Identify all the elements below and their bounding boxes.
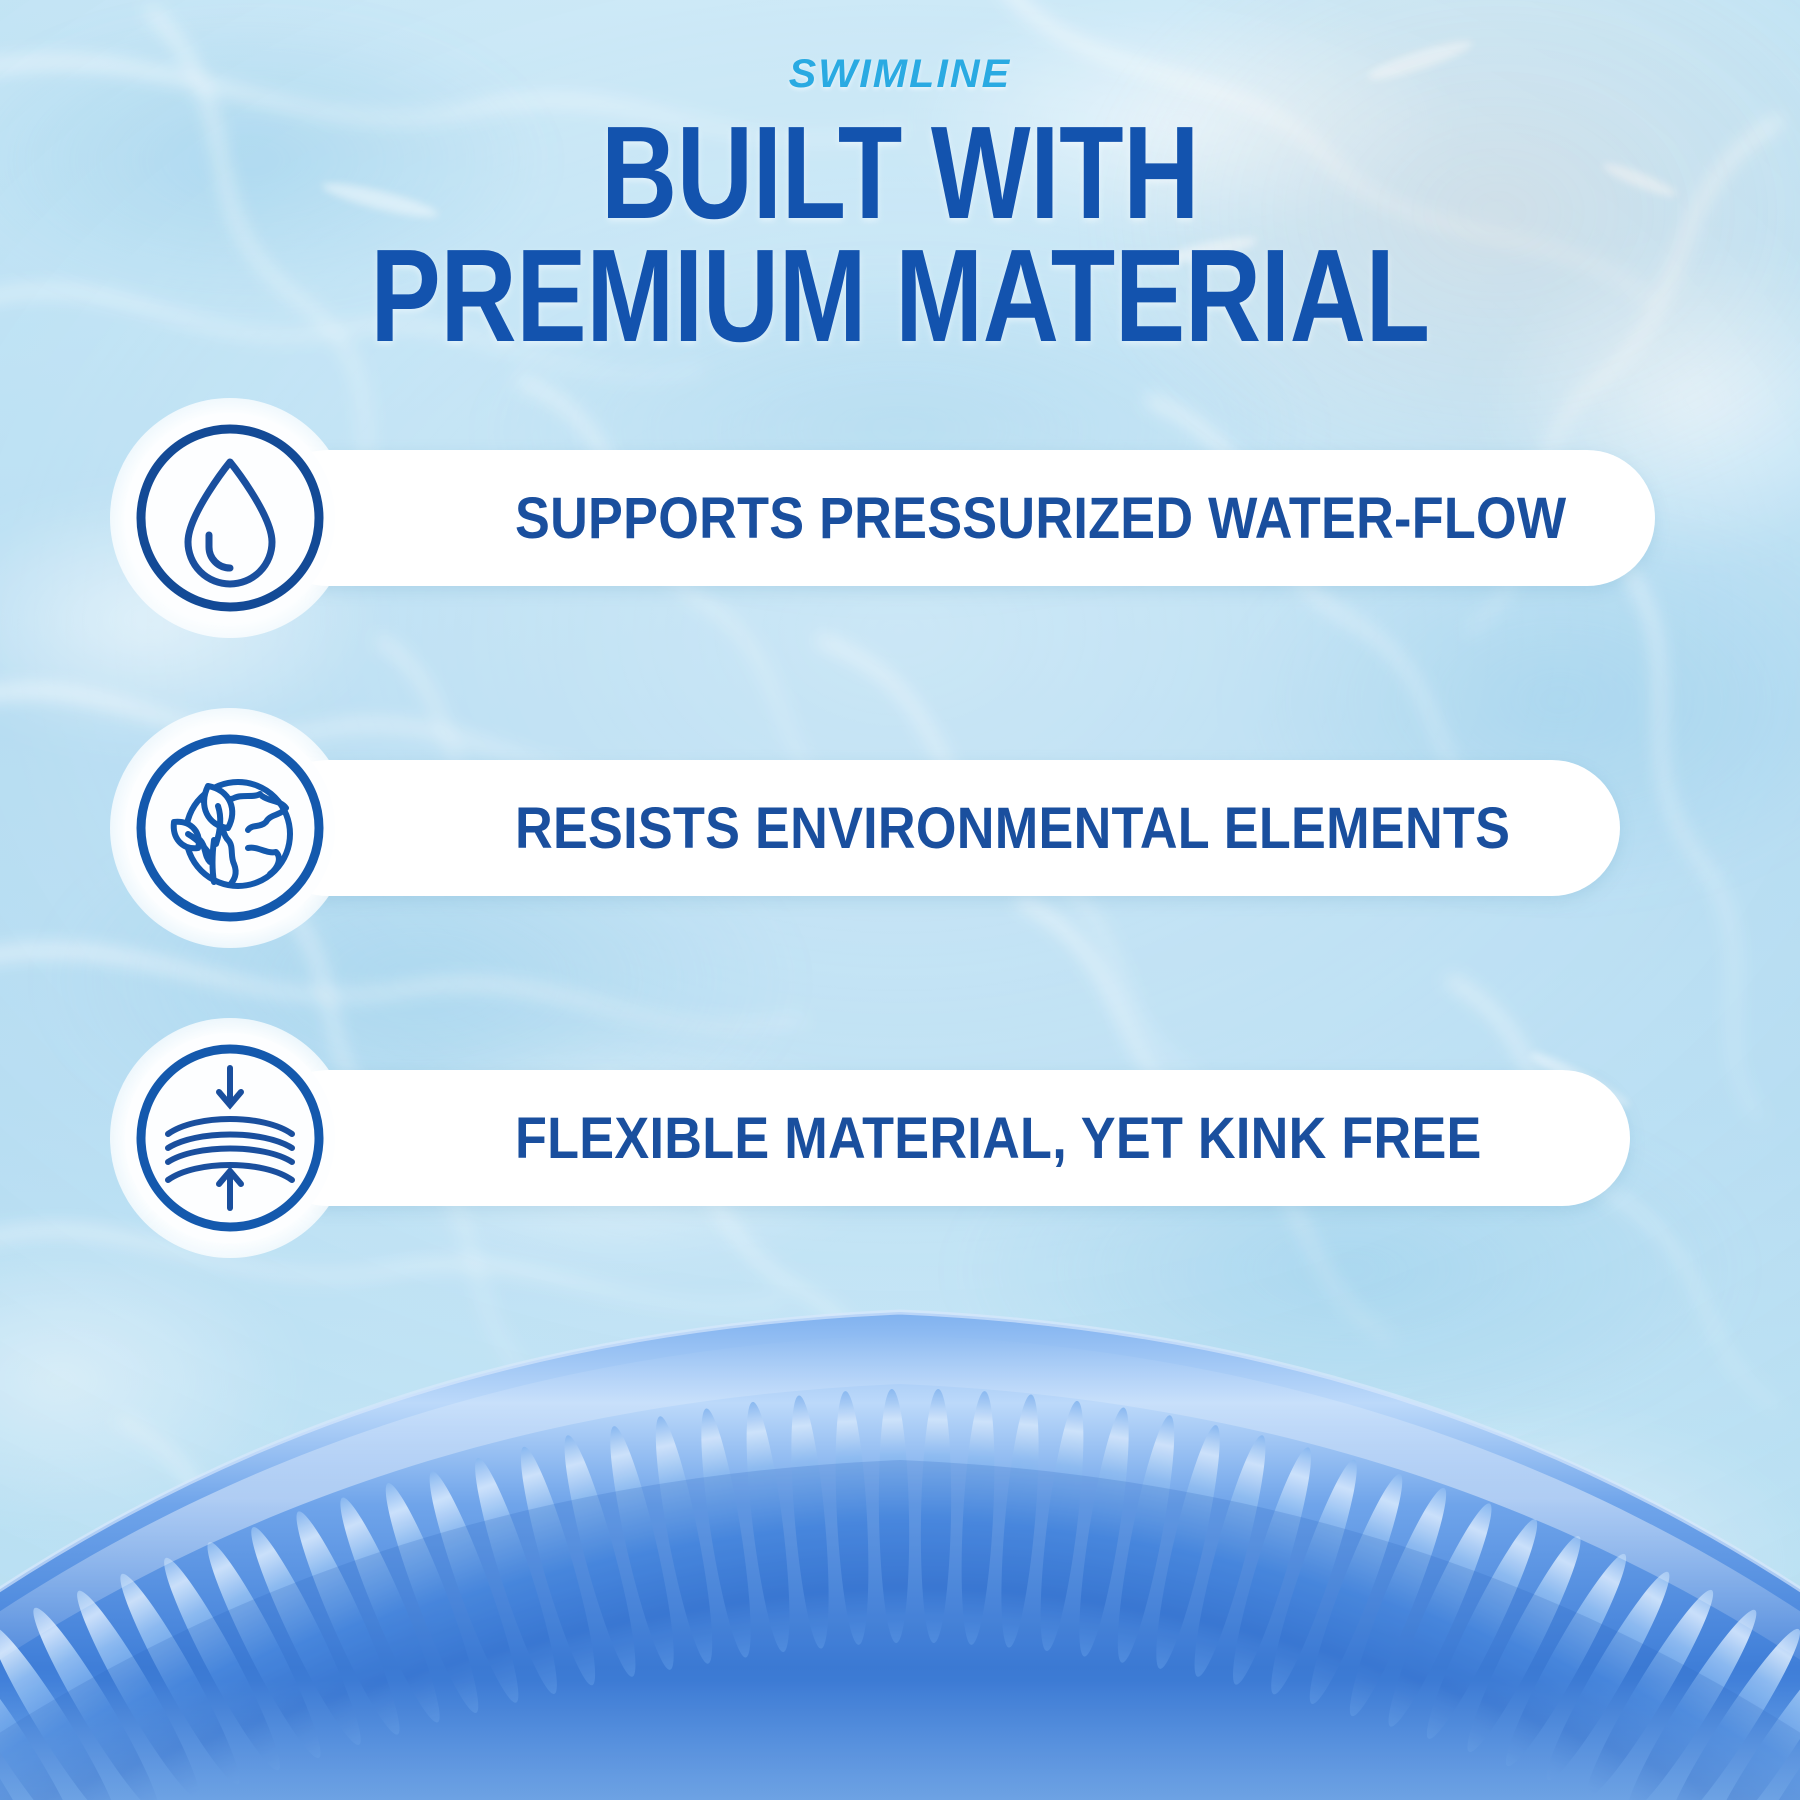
feature-pill: RESISTS ENVIRONMENTAL ELEMENTS bbox=[260, 760, 1620, 896]
feature-label: SUPPORTS PRESSURIZED WATER-FLOW bbox=[515, 485, 1566, 552]
feature-pill: SUPPORTS PRESSURIZED WATER-FLOW bbox=[260, 450, 1655, 586]
globe-leaf-icon bbox=[130, 728, 330, 928]
icon-disc bbox=[125, 723, 335, 933]
marketing-banner: SWIMLINE BUILT WITH PREMIUM MATERIAL SUP… bbox=[0, 0, 1800, 1800]
feature-icon-badge bbox=[110, 398, 350, 638]
product-hose-image bbox=[0, 1160, 1800, 1800]
hose-body bbox=[0, 1312, 1800, 1800]
feature-label: RESISTS ENVIRONMENTAL ELEMENTS bbox=[515, 795, 1510, 862]
water-drop-icon bbox=[130, 418, 330, 618]
icon-disc bbox=[125, 1033, 335, 1243]
flexible-compression-icon bbox=[130, 1038, 330, 1238]
feature-icon-badge bbox=[110, 708, 350, 948]
icon-disc bbox=[125, 413, 335, 623]
feature-icon-badge bbox=[110, 1018, 350, 1258]
